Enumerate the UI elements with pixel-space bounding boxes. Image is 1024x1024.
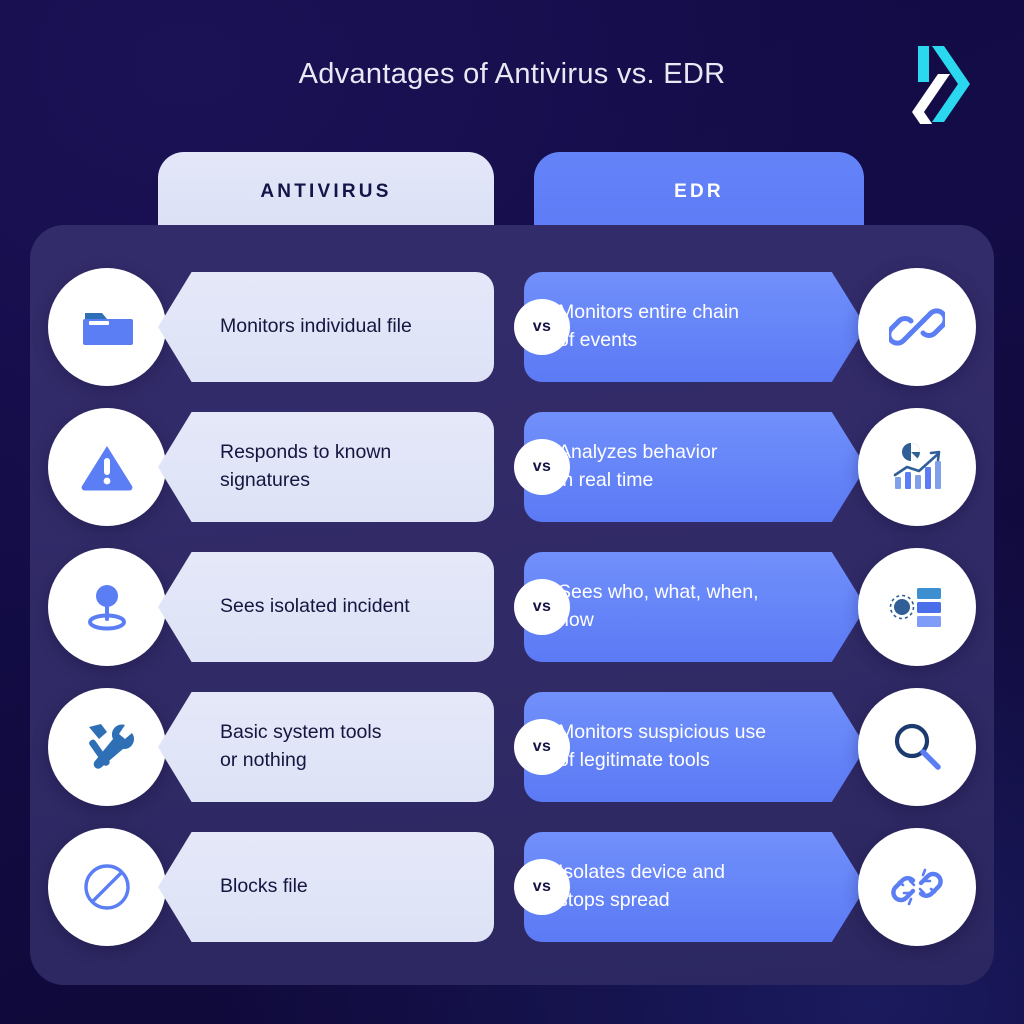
edr-banner-text: Monitors entire chain of events (558, 299, 739, 354)
antivirus-banner-text: Sees isolated incident (220, 593, 410, 621)
analytics-chart-icon-bubble (858, 408, 976, 526)
edr-banner-text: Isolates device and stops spread (558, 859, 725, 914)
edr-banner-text: Analyzes behavior in real time (558, 439, 717, 494)
warning-triangle-icon (79, 439, 135, 495)
comparison-row: Responds to known signatures vs Analyzes… (30, 412, 994, 522)
antivirus-banner: Blocks file (158, 832, 494, 942)
edr-banner: Isolates device and stops spread (524, 832, 866, 942)
tab-edr[interactable]: EDR (534, 152, 864, 232)
tab-edr-label: EDR (674, 181, 724, 203)
edr-banner: Analyzes behavior in real time (524, 412, 866, 522)
edr-banner-text: Monitors suspicious use of legitimate to… (558, 719, 766, 774)
hammer-wrench-tools-icon-bubble (48, 688, 166, 806)
vs-label: vs (533, 738, 552, 756)
timeline-records-icon (889, 579, 945, 635)
vs-label: vs (533, 878, 552, 896)
magnifying-glass-icon-bubble (858, 688, 976, 806)
prohibition-block-icon-bubble (48, 828, 166, 946)
broken-chain-icon-bubble (858, 828, 976, 946)
comparison-row: Blocks file vs Isolates device and stops… (30, 832, 994, 942)
edr-banner: Monitors entire chain of events (524, 272, 866, 382)
magnifying-glass-icon (889, 719, 945, 775)
location-pin-icon-bubble (48, 548, 166, 666)
location-pin-icon (79, 579, 135, 635)
prohibition-block-icon (79, 859, 135, 915)
antivirus-banner: Basic system tools or nothing (158, 692, 494, 802)
hammer-wrench-tools-icon (79, 719, 135, 775)
antivirus-banner: Sees isolated incident (158, 552, 494, 662)
vs-badge: vs (514, 719, 570, 775)
vs-badge: vs (514, 859, 570, 915)
broken-chain-icon (889, 859, 945, 915)
vs-label: vs (533, 458, 552, 476)
comparison-panel: Monitors individual file vs Monitors ent… (30, 225, 994, 985)
chain-link-icon-bubble (858, 268, 976, 386)
antivirus-banner-text: Blocks file (220, 873, 308, 901)
vs-badge: vs (514, 299, 570, 355)
vs-label: vs (533, 318, 552, 336)
edr-banner: Monitors suspicious use of legitimate to… (524, 692, 866, 802)
edr-banner: Sees who, what, when, how (524, 552, 866, 662)
antivirus-banner: Responds to known signatures (158, 412, 494, 522)
folder-icon-bubble (48, 268, 166, 386)
vs-label: vs (533, 598, 552, 616)
page-title: Advantages of Antivirus vs. EDR (0, 58, 1024, 91)
antivirus-banner-text: Monitors individual file (220, 313, 412, 341)
antivirus-banner-text: Basic system tools or nothing (220, 719, 381, 774)
tab-antivirus[interactable]: ANTIVIRUS (158, 152, 494, 232)
comparison-row: Sees isolated incident vs Sees who, what… (30, 552, 994, 662)
antivirus-banner-text: Responds to known signatures (220, 439, 391, 494)
comparison-row: Basic system tools or nothing vs Monitor… (30, 692, 994, 802)
analytics-chart-icon (889, 439, 945, 495)
chain-link-icon (889, 299, 945, 355)
edr-banner-text: Sees who, what, when, how (558, 579, 759, 634)
vs-badge: vs (514, 439, 570, 495)
vs-badge: vs (514, 579, 570, 635)
brand-chevron-logo (908, 44, 980, 124)
warning-triangle-icon-bubble (48, 408, 166, 526)
tab-antivirus-label: ANTIVIRUS (260, 181, 391, 203)
folder-icon (79, 299, 135, 355)
timeline-records-icon-bubble (858, 548, 976, 666)
comparison-row: Monitors individual file vs Monitors ent… (30, 272, 994, 382)
antivirus-banner: Monitors individual file (158, 272, 494, 382)
